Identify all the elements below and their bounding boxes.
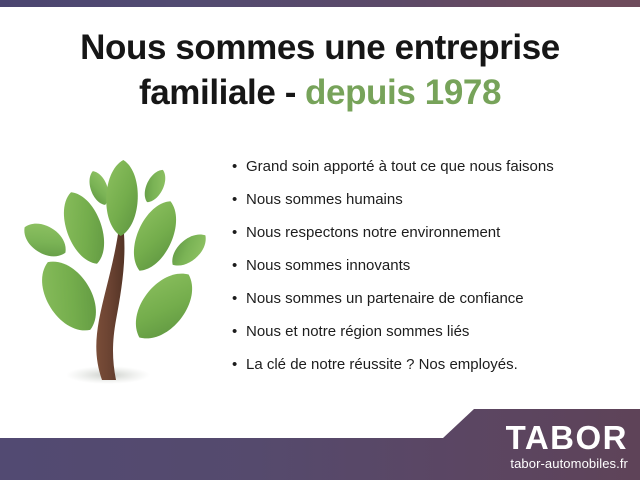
slide-canvas: Nous sommes une entreprise familiale -de… [0,0,640,480]
list-item-label: Nous sommes innovants [246,257,410,274]
list-item: • Grand soin apporté à tout ce que nous … [231,150,631,183]
tree-leaf [105,159,139,236]
list-item-label: Nous sommes un partenaire de confiance [246,290,524,307]
page-title-accent-since: depuis 1978 [305,73,501,112]
tree-leaf [140,166,171,206]
list-item: • Nous et notre région sommes liés [231,315,631,348]
page-title-line-1: Nous sommes une entreprise [0,26,640,70]
tree-leaf [29,251,108,342]
bullet-icon: • [232,216,237,249]
page-title-line-2: familiale -depuis 1978 [0,71,640,115]
tree-leaf [123,262,205,351]
list-item: • Nous respectons notre environnement [231,216,631,249]
list-item-label: Nous sommes humains [246,191,403,208]
tree-illustration [12,148,227,393]
brand-logo[interactable]: TABOR tabor-automobiles.fr [423,421,628,472]
bullet-icon: • [232,348,237,381]
list-item-label: Nous respectons notre environnement [246,224,500,241]
page-title: Nous sommes une entreprise familiale -de… [0,26,640,115]
bullet-icon: • [232,183,237,216]
tree-leaf [17,216,72,264]
list-item: • Nous sommes humains [231,183,631,216]
list-item: • Nous sommes innovants [231,249,631,282]
page-title-line-2-dark: familiale - [139,73,296,112]
brand-wordmark: TABOR [423,421,628,455]
list-item-label: Grand soin apporté à tout ce que nous fa… [246,158,554,175]
brand-website: tabor-automobiles.fr [423,456,628,472]
bullet-icon: • [232,249,237,282]
list-item-label: Nous et notre région sommes liés [246,323,469,340]
top-accent-bar [0,0,640,7]
bullet-icon: • [232,282,237,315]
list-item: • La clé de notre réussite ? Nos employé… [231,348,631,381]
list-item-label: La clé de notre réussite ? Nos employés. [246,356,518,373]
bullet-icon: • [232,315,237,348]
benefits-list: • Grand soin apporté à tout ce que nous … [231,150,631,381]
list-item: • Nous sommes un partenaire de confiance [231,282,631,315]
bullet-icon: • [232,150,237,183]
